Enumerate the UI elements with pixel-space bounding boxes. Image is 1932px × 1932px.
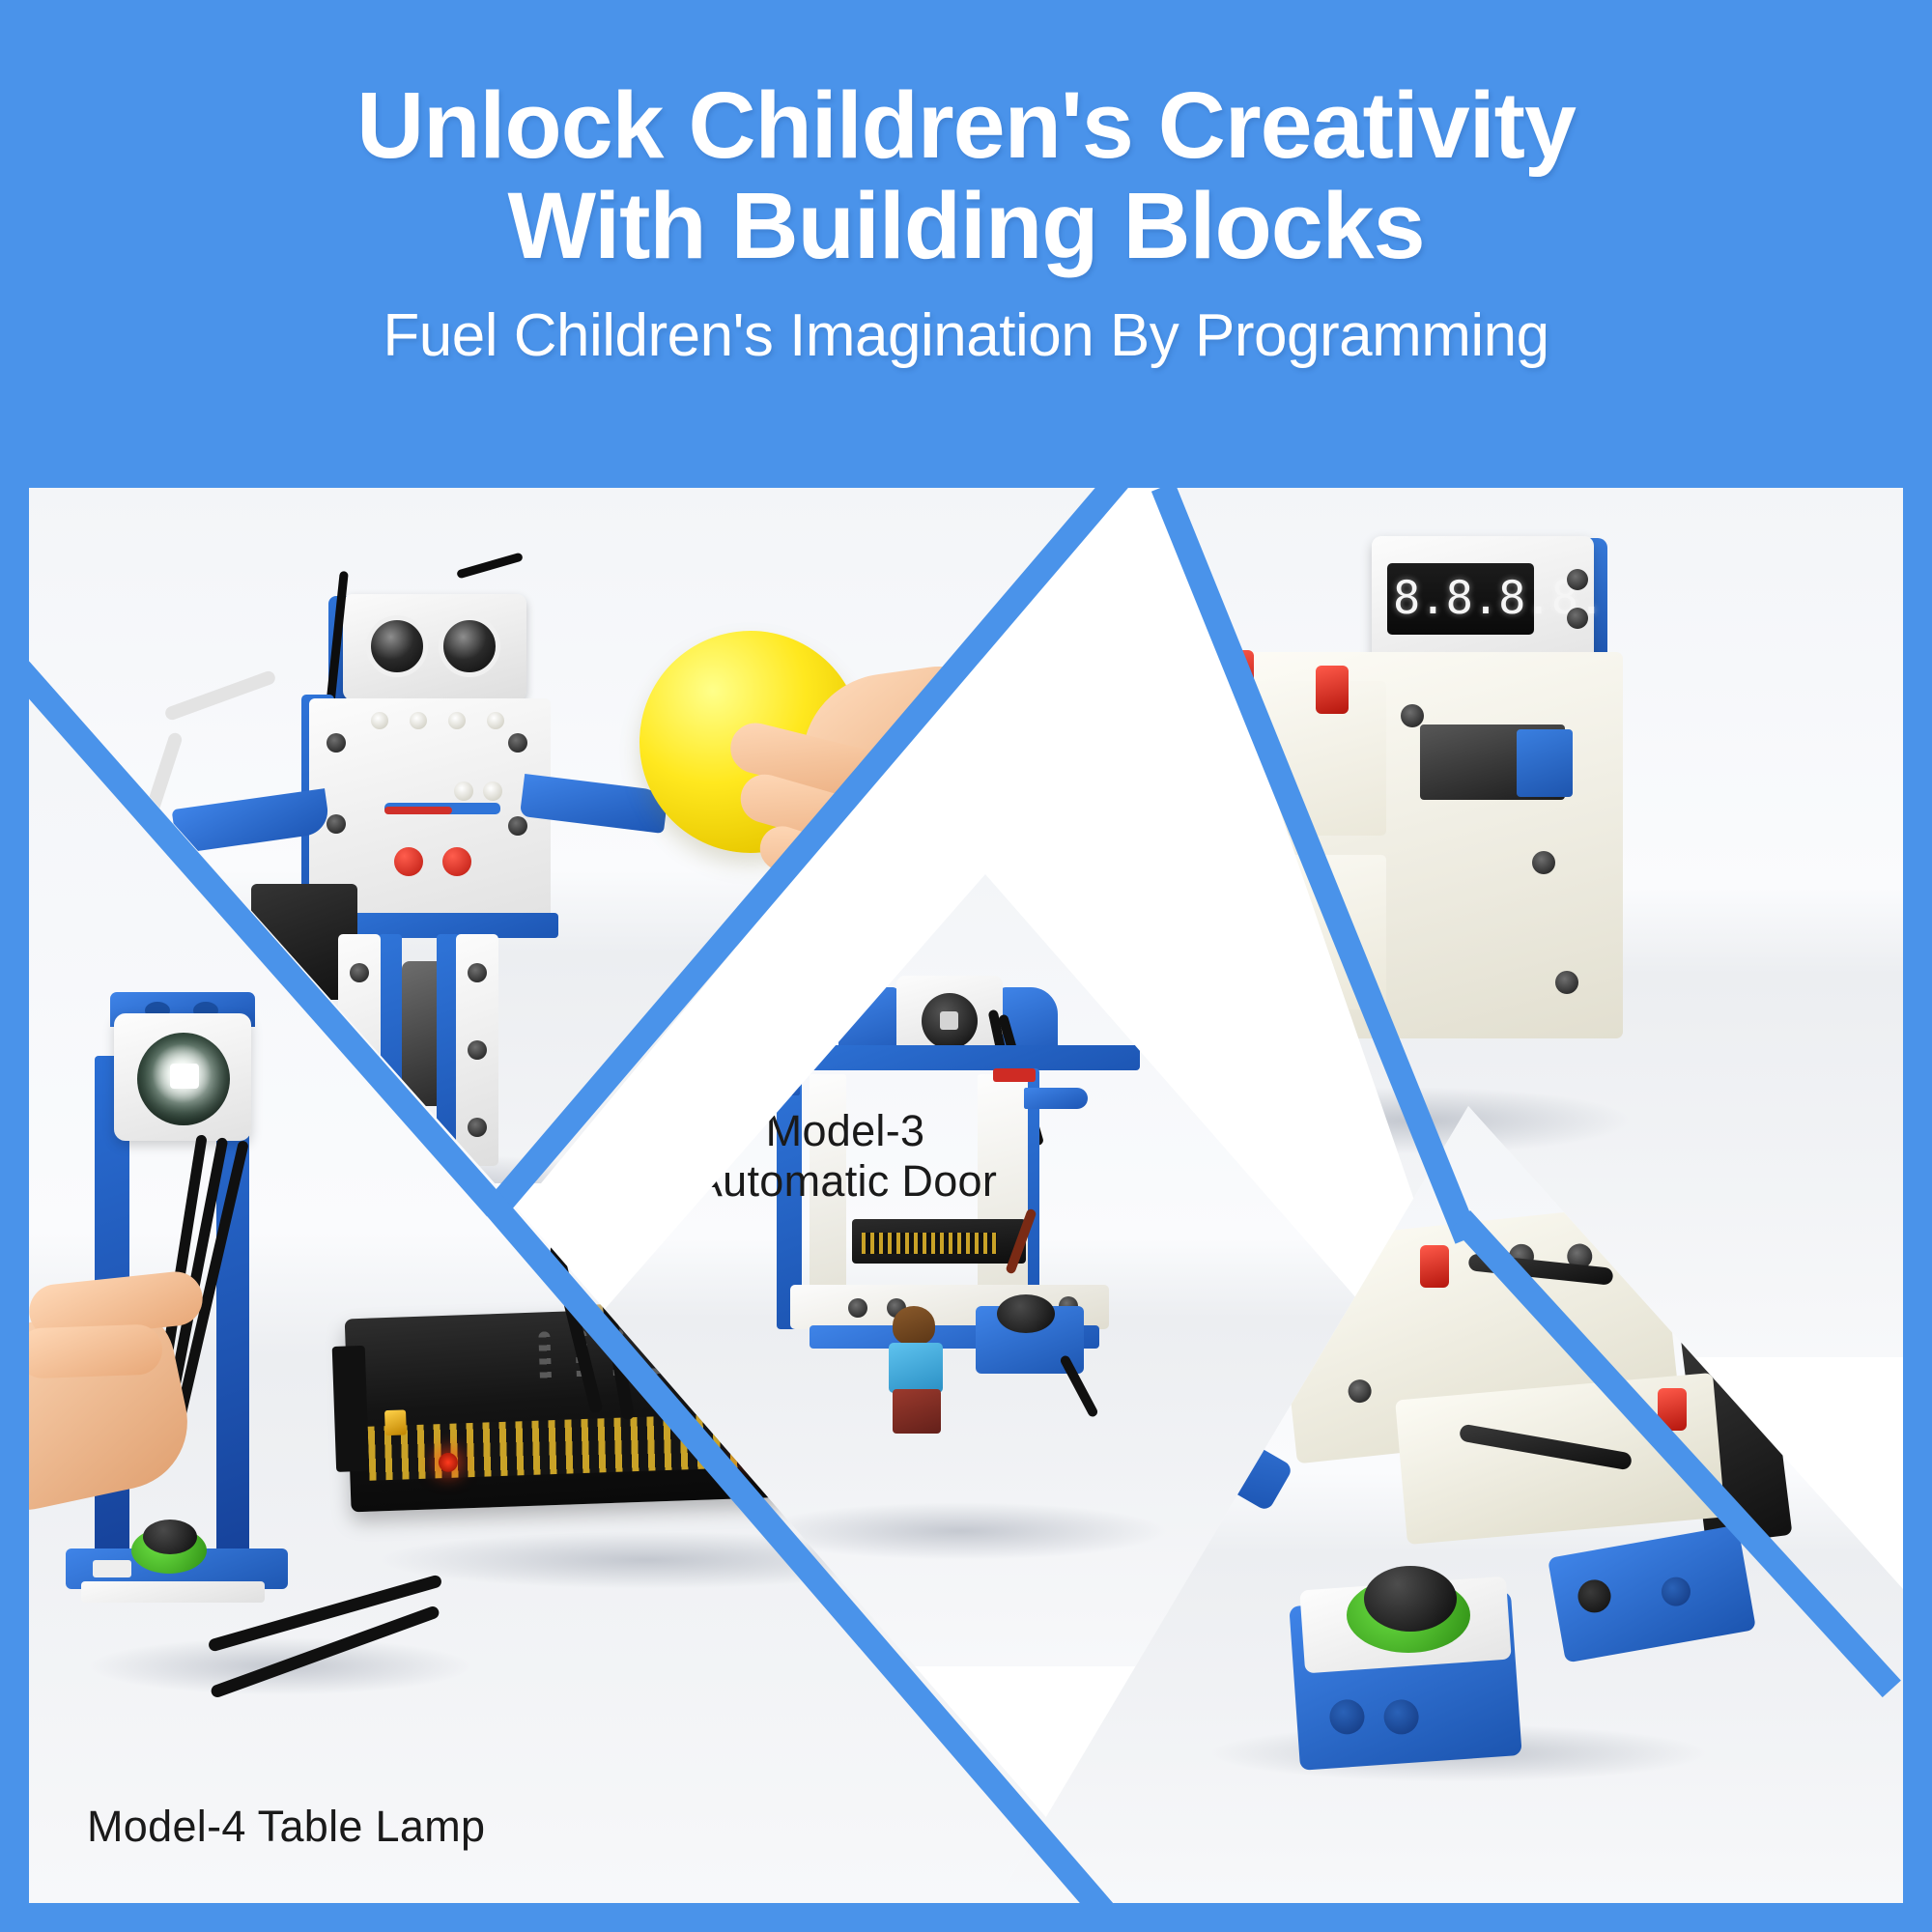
red-pin-left	[394, 847, 423, 876]
red-pin-top	[1420, 1245, 1449, 1288]
piggy-bank-model: 8.8.8.8.	[1207, 536, 1662, 1106]
ultrasonic-eye-left-icon	[366, 615, 428, 677]
header-banner: Unlock Children's Creativity With Buildi…	[0, 0, 1932, 488]
red-marker-brick	[993, 1068, 1036, 1082]
microbit-board	[852, 1219, 1026, 1264]
child-hand-pressing-button	[29, 1280, 280, 1570]
panel-label-model-4: Model-4 Table Lamp	[87, 1802, 485, 1852]
door-lintel-beam	[753, 1045, 1140, 1070]
minifigure-torso	[889, 1343, 943, 1393]
panel-label-model-3: Model-3 Automatic Door	[642, 1106, 1048, 1207]
display-digits: 8.8.8.8.	[1393, 571, 1530, 627]
page-subtitle: Fuel Children's Imagination By Programmi…	[383, 301, 1548, 370]
sensor-chip-icon	[940, 1011, 958, 1030]
coin-slot-blue-brick	[1517, 729, 1573, 797]
minifigure-head	[893, 1306, 935, 1345]
red-pin-right	[442, 847, 471, 876]
side-connector-module	[1548, 1524, 1756, 1662]
push-button-icon[interactable]	[997, 1294, 1055, 1333]
door-rail-left	[746, 1074, 800, 1095]
green-push-button-icon[interactable]	[1364, 1566, 1457, 1632]
ultrasonic-eye-right-icon	[439, 615, 500, 677]
lamp-base-plate	[81, 1581, 265, 1603]
red-pin-2	[1316, 666, 1349, 714]
minifigure-legs	[893, 1389, 941, 1434]
yellow-connector-left	[384, 1409, 407, 1435]
led-light-icon	[170, 1064, 199, 1089]
page-title: Unlock Children's Creativity With Buildi…	[356, 75, 1576, 276]
product-photo-collage: Model-1 Flying Penguin 8.8.8.8.	[29, 488, 1903, 1903]
leg-white-right	[456, 934, 498, 1166]
